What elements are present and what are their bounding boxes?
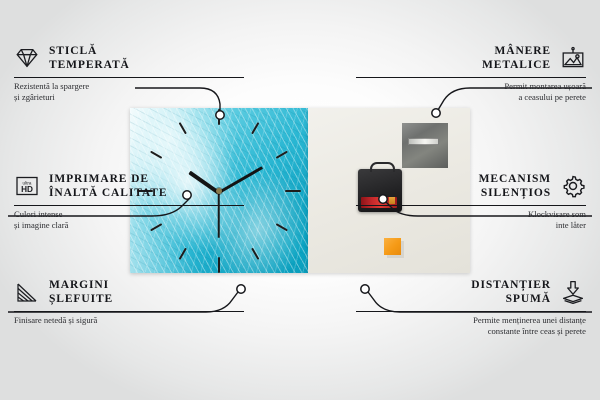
feature-description: Permite menținerea unei distanțe constan… (356, 315, 586, 337)
clock-tick (285, 190, 301, 192)
feature-title: MÂNERE METALICE (482, 44, 551, 72)
feature-hd-print: ultra HD IMPRIMARE DE ÎNALTĂ CALITATE Cu… (14, 172, 244, 231)
hanger-slot (408, 138, 439, 145)
clock-tick (276, 223, 288, 231)
feature-description: Finisare netedă și sigură (14, 315, 244, 326)
feature-title: STICLĂ TEMPERATĂ (49, 44, 130, 72)
clock-tick (251, 247, 259, 259)
feature-rule (356, 205, 586, 206)
clock-tick (179, 247, 187, 259)
feature-foam-spacer: DISTANȚIER SPUMĂ Permite menținerea unei… (356, 278, 586, 337)
clock-tick (218, 109, 220, 125)
feature-rule (14, 77, 244, 78)
feature-polished-edges: MARGINI ȘLEFUITE Finisare netedă și sigu… (14, 278, 244, 326)
feature-rule (14, 205, 244, 206)
feature-rule (14, 311, 244, 312)
svg-text:HD: HD (21, 185, 33, 194)
feature-silent-mechanism: MECANISM SILENȚIOS Klockvisare som inte … (356, 172, 586, 231)
feature-title: MARGINI ȘLEFUITE (49, 278, 113, 306)
ultra-hd-icon: ultra HD (14, 173, 40, 199)
feature-title: MECANISM SILENȚIOS (479, 172, 551, 200)
metal-hanger-plate (402, 123, 448, 168)
feature-metal-hangers: MÂNERE METALICE Permit montarea ușoară a… (356, 44, 586, 103)
feature-title: DISTANȚIER SPUMĂ (471, 278, 551, 306)
feature-rule (356, 77, 586, 78)
clock-tick (251, 122, 259, 134)
feature-header: MÂNERE METALICE (356, 44, 586, 72)
feature-header: STICLĂ TEMPERATĂ (14, 44, 244, 72)
feature-header: ultra HD IMPRIMARE DE ÎNALTĂ CALITATE (14, 172, 244, 200)
feature-description: Permit montarea ușoară a ceasului pe per… (356, 81, 586, 103)
feature-description: Klockvisare som inte låter (356, 209, 586, 231)
feature-header: MARGINI ȘLEFUITE (14, 278, 244, 306)
clock-tick (179, 122, 187, 134)
gear-icon (560, 173, 586, 199)
feature-description: Culori intense și imagine clară (14, 209, 244, 231)
polished-edges-icon (14, 279, 40, 305)
feature-title: IMPRIMARE DE ÎNALTĂ CALITATE (49, 172, 167, 200)
clock-tick (276, 150, 288, 158)
feature-header: DISTANȚIER SPUMĂ (356, 278, 586, 306)
movement-hanger-loop (370, 162, 395, 173)
feature-description: Rezistentă la spargere și zgârieturi (14, 81, 244, 103)
picture-frame-icon (560, 45, 586, 71)
feature-tempered-glass: STICLĂ TEMPERATĂ Rezistentă la spargere … (14, 44, 244, 103)
clock-tick (150, 150, 162, 158)
feature-rule (356, 311, 586, 312)
foam-spacer (384, 238, 401, 255)
infographic-canvas: STICLĂ TEMPERATĂ Rezistentă la spargere … (0, 0, 600, 400)
clock-tick (218, 257, 220, 273)
feature-header: MECANISM SILENȚIOS (356, 172, 586, 200)
diamond-icon (14, 45, 40, 71)
foam-spacer-icon (560, 279, 586, 305)
